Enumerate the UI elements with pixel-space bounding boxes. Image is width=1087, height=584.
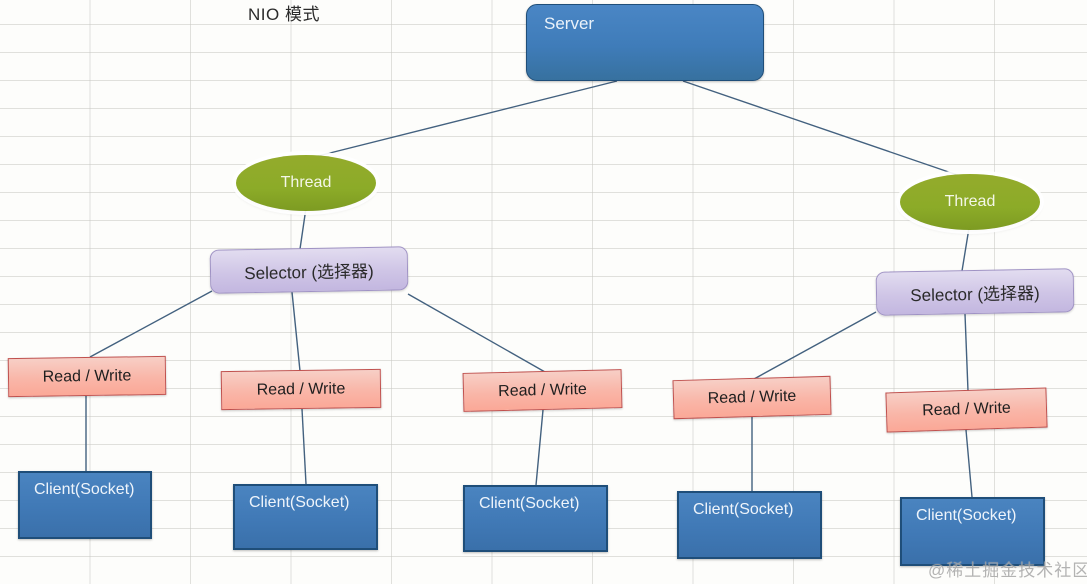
node-read-write-1[interactable]: Read / Write [8,356,167,397]
node-client-4-label: Client(Socket) [693,501,793,518]
edge-selector-left-to-rw-2 [292,292,300,371]
edge-thread-right-to-selector-right [962,228,969,271]
node-read-write-2[interactable]: Read / Write [221,369,382,410]
node-selector-left-label: Selector (选择器) [244,256,374,283]
node-read-write-4-label: Read / Write [707,387,796,407]
node-server-label: Server [544,14,594,33]
node-client-1[interactable]: Client(Socket) [18,471,152,539]
edge-server-to-thread-left [306,81,617,159]
edge-selector-right-to-rw-5 [965,314,968,391]
watermark: @稀土掘金技术社区 [928,556,1087,581]
edge-server-to-thread-right [683,81,972,180]
node-client-3-label: Client(Socket) [479,495,579,512]
edge-thread-left-to-selector-left [300,208,306,249]
diagram-title: NIO 模式 [248,0,320,25]
node-read-write-3[interactable]: Read / Write [463,369,623,412]
node-thread-right-label: Thread [945,193,996,211]
edge-selector-right-to-rw-4 [754,312,876,379]
edge-rw-2-to-client-2 [302,409,306,484]
node-thread-right[interactable]: Thread [900,174,1040,230]
node-read-write-2-label: Read / Write [257,380,346,399]
node-thread-left[interactable]: Thread [236,155,376,211]
node-selector-right[interactable]: Selector (选择器) [876,268,1075,315]
node-thread-left-label: Thread [281,174,332,192]
node-read-write-3-label: Read / Write [498,380,587,400]
node-selector-left[interactable]: Selector (选择器) [210,246,409,293]
diagram-canvas: NIO 模式 Server Thread Thread Selector (选择… [0,0,1087,584]
node-server[interactable]: Server [526,4,764,81]
node-selector-right-label: Selector (选择器) [910,278,1040,305]
node-client-2-label: Client(Socket) [249,494,349,511]
edge-selector-left-to-rw-3 [408,294,545,372]
node-read-write-5-label: Read / Write [922,400,1011,421]
edge-rw-5-to-client-5 [966,430,972,497]
node-read-write-1-label: Read / Write [43,367,132,386]
node-client-3[interactable]: Client(Socket) [463,485,608,552]
node-read-write-4[interactable]: Read / Write [672,376,831,419]
node-client-2[interactable]: Client(Socket) [233,484,378,550]
node-read-write-5[interactable]: Read / Write [885,387,1047,432]
edge-rw-3-to-client-3 [536,410,543,485]
edge-selector-left-to-rw-1 [90,291,212,357]
node-client-5-label: Client(Socket) [916,507,1016,524]
node-client-1-label: Client(Socket) [34,481,134,498]
node-client-4[interactable]: Client(Socket) [677,491,822,559]
